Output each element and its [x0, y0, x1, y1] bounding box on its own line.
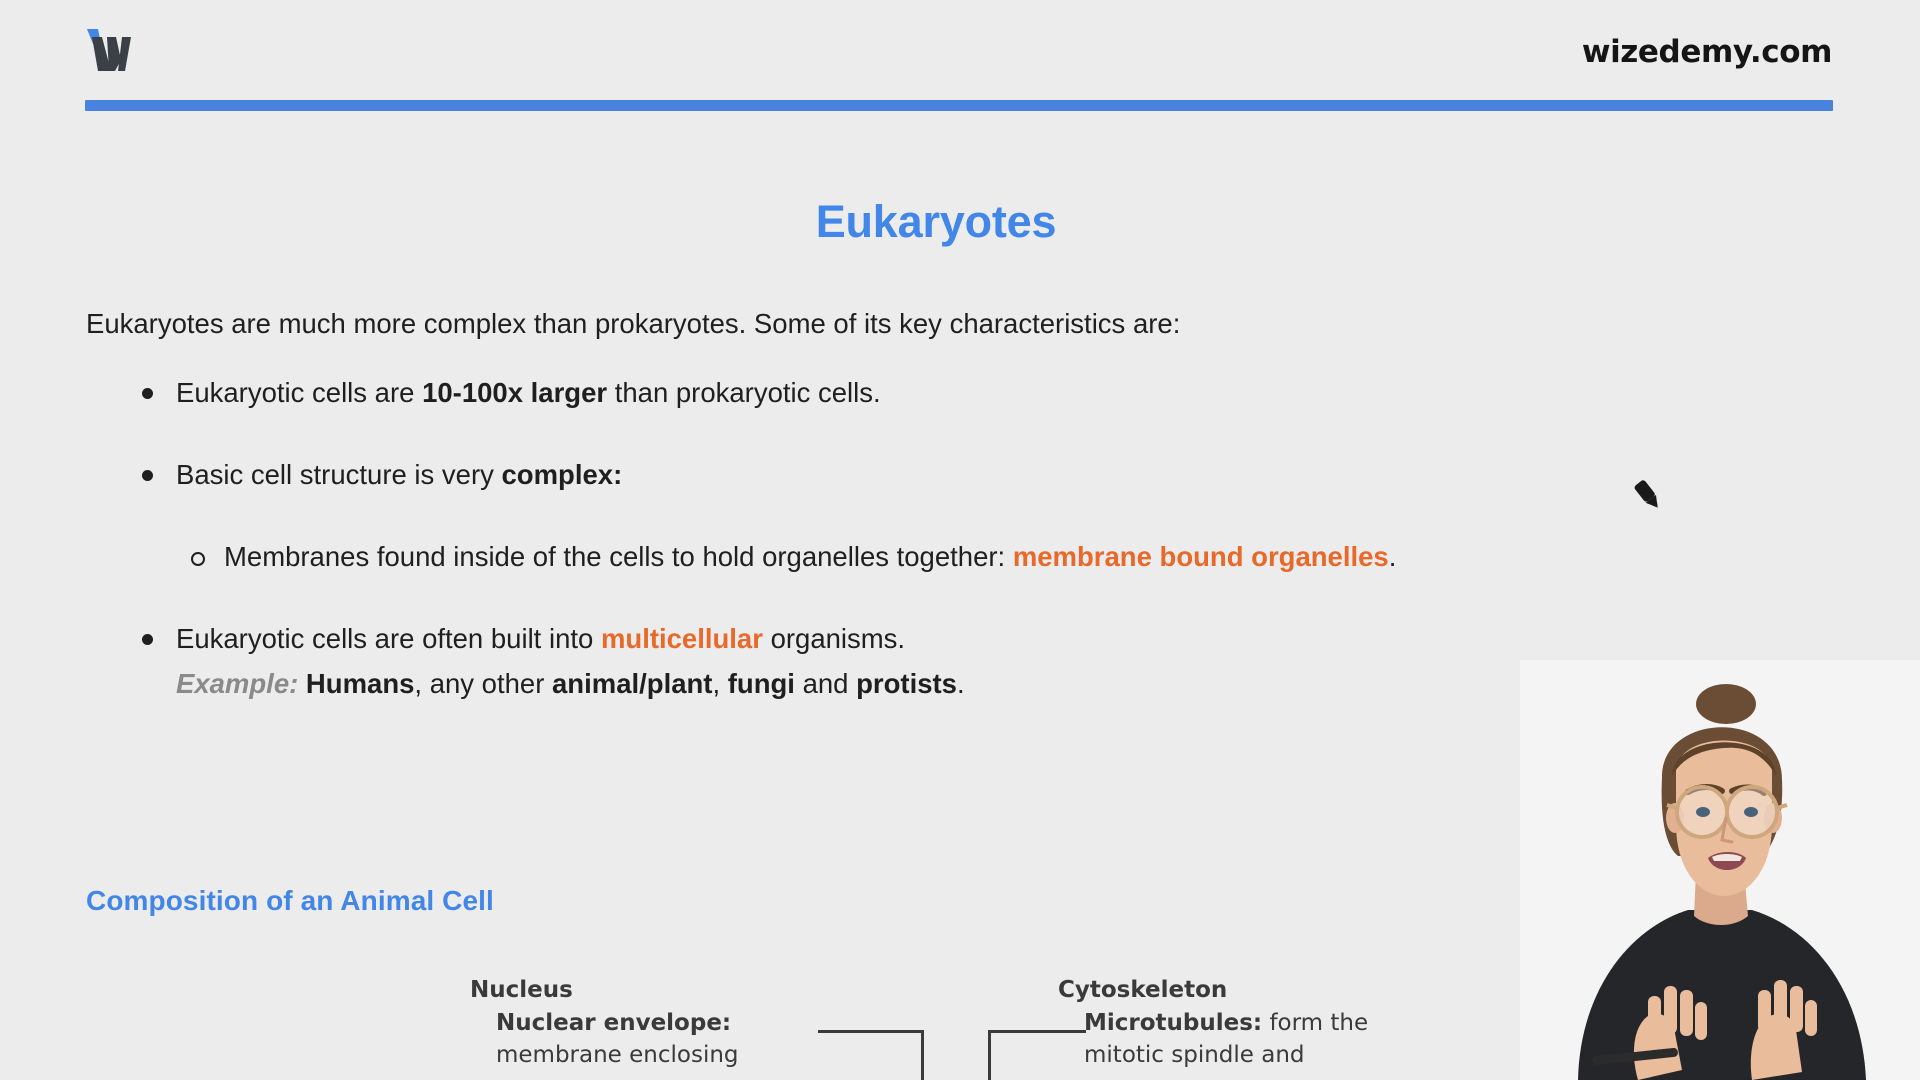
diagram-label-heading: Cytoskeleton	[1058, 974, 1368, 1007]
diagram-leader-line-right	[988, 1030, 1086, 1080]
diagram-label-cytoskeleton: Cytoskeleton Microtubules: form the mito…	[1058, 974, 1368, 1072]
highlighted-term: membrane bound organelles	[1013, 541, 1389, 572]
brand-url: wizedemy.com	[1582, 34, 1832, 70]
diagram-label-sub-rest: form the	[1262, 1010, 1368, 1036]
list-item-sub: Membranes found inside of the cells to h…	[86, 538, 1586, 576]
bullet-text-run-bold: animal/plant	[552, 668, 712, 699]
bullet-text-run: Eukaryotic cells are often built into	[176, 623, 601, 654]
example-line: Example: Humans, any other animal/plant,…	[176, 665, 1586, 703]
bullet-text-run	[298, 668, 306, 699]
bullet-text-run-bold: complex:	[502, 459, 623, 490]
diagram-label-sub: Nuclear envelope:	[470, 1007, 739, 1040]
diagram-leader-line-left	[818, 1030, 924, 1080]
bullet-text-run-bold: 10-100x larger	[422, 377, 607, 408]
list-item: Basic cell structure is very complex:	[86, 456, 1586, 494]
intro-paragraph: Eukaryotes are much more complex than pr…	[86, 305, 1586, 342]
diagram-label-sub-line2: mitotic spindle and	[1058, 1039, 1368, 1072]
bullet-text-run: .	[957, 668, 965, 699]
bullet-text-run: Membranes found inside of the cells to h…	[224, 541, 1013, 572]
list-item: Eukaryotic cells are often built into mu…	[86, 620, 1586, 703]
diagram-label-sub: Microtubules: form the	[1058, 1007, 1368, 1040]
bullet-text-run: and	[795, 668, 856, 699]
slide-canvas: wizedemy.com Eukaryotes Eukaryotes are m…	[0, 0, 1920, 1080]
page-title: Eukaryotes	[0, 196, 1920, 248]
bullet-text-run: .	[1389, 541, 1397, 572]
bullet-text-run: than prokaryotic cells.	[607, 377, 881, 408]
pen-cursor-icon[interactable]	[1628, 476, 1668, 516]
slide-body: Eukaryotes are much more complex than pr…	[86, 305, 1586, 703]
wizedemy-w-logo-icon	[85, 26, 149, 80]
header-divider-rule	[85, 100, 1833, 111]
bullet-text-run-bold: fungi	[728, 668, 795, 699]
diagram-label-sub-bold: Nuclear envelope:	[496, 1010, 731, 1036]
diagram-label-heading: Nucleus	[470, 974, 739, 1007]
slide-header: wizedemy.com	[0, 0, 1920, 118]
bullet-text-run: Eukaryotic cells are	[176, 377, 422, 408]
bullet-text-run-bold: Humans	[306, 668, 415, 699]
bullet-text-run: organisms.	[763, 623, 905, 654]
bullet-text-run-bold: protists	[856, 668, 957, 699]
example-label: Example:	[176, 668, 298, 699]
diagram-label-nucleus: Nucleus Nuclear envelope: membrane enclo…	[470, 974, 739, 1072]
animal-cell-diagram: Nucleus Nuclear envelope: membrane enclo…	[0, 968, 1920, 1080]
characteristics-list: Eukaryotic cells are 10-100x larger than…	[86, 374, 1586, 703]
highlighted-term: multicellular	[601, 623, 763, 654]
bullet-text-run: ,	[712, 668, 727, 699]
page-title-text: Eukaryotes	[816, 196, 1057, 248]
bullet-text-run: Basic cell structure is very	[176, 459, 502, 490]
diagram-label-sub-bold: Microtubules:	[1084, 1010, 1262, 1036]
list-item: Eukaryotic cells are 10-100x larger than…	[86, 374, 1586, 412]
section-heading: Composition of an Animal Cell	[86, 885, 494, 917]
diagram-label-sub-rest: membrane enclosing	[470, 1039, 739, 1072]
bullet-text-run: , any other	[414, 668, 552, 699]
